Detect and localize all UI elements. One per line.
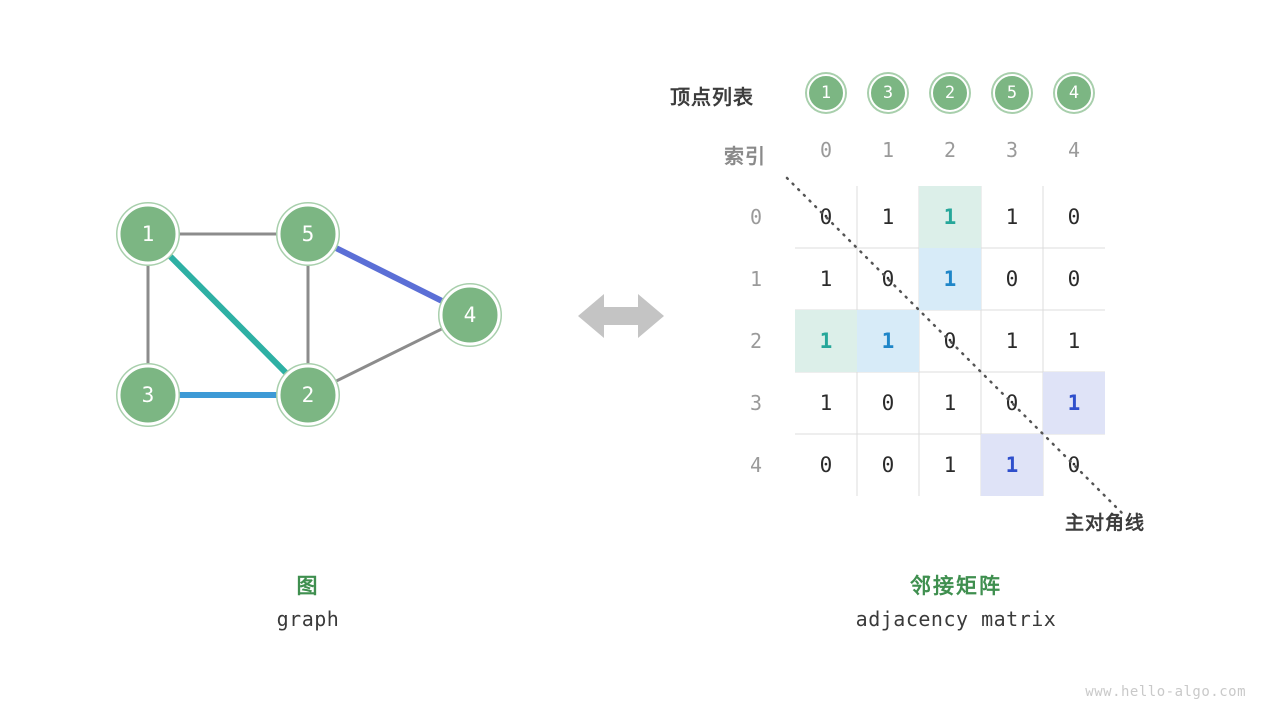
index-header-4: 4 [1043,138,1105,162]
graph-node-label: 4 [464,303,477,327]
vertex-chip-3[interactable]: 3 [869,74,907,112]
row-header-3: 3 [732,372,780,434]
matrix-cell-r3-c2: 1 [919,372,981,434]
index-header-1: 1 [857,138,919,162]
matrix-cell-r2-c2: 0 [919,310,981,372]
matrix-cell-r2-c1: 1 [857,310,919,372]
graph-node-label: 5 [302,222,315,246]
row-header-4: 4 [732,434,780,496]
index-header-3: 3 [981,138,1043,162]
graph-node-5[interactable]: 5 [277,203,339,265]
matrix-cell-r0-c1: 1 [857,186,919,248]
matrix-cell-r3-c4: 1 [1043,372,1105,434]
vertex-chip-label: 5 [1007,83,1017,103]
matrix-cell-r2-c0: 1 [795,310,857,372]
matrix-cell-r4-c2: 1 [919,434,981,496]
matrix-caption-en: adjacency matrix [776,602,1136,636]
graph-node-label: 1 [142,222,155,246]
vertex-chip-label: 4 [1069,83,1079,103]
graph-edge-2-4 [335,328,443,381]
matrix-grid: 0111010100110111010100110 [795,186,1105,496]
graph-node-label: 2 [302,383,315,407]
row-header-2: 2 [732,310,780,372]
graph-node-2[interactable]: 2 [277,364,339,426]
index-header-2: 2 [919,138,981,162]
vertex-chip-5[interactable]: 5 [993,74,1031,112]
graph-caption-cn: 图 [128,570,488,602]
matrix-cell-r0-c3: 1 [981,186,1043,248]
matrix-cell-r2-c4: 1 [1043,310,1105,372]
adjacency-matrix-panel: 顶点列表 索引 13254 01234 01234 01110101001101… [640,0,1280,540]
matrix-cell-r1-c2: 1 [919,248,981,310]
matrix-cell-r3-c1: 0 [857,372,919,434]
matrix-cell-r4-c0: 0 [795,434,857,496]
graph-svg: 15324 [0,0,560,540]
vertex-list-label: 顶点列表 [670,81,754,110]
graph-edge-1-2 [169,255,287,373]
matrix-cell-r4-c3: 1 [981,434,1043,496]
matrix-cell-r3-c3: 0 [981,372,1043,434]
matrix-cell-r4-c1: 0 [857,434,919,496]
row-header-0: 0 [732,186,780,248]
graph-node-4[interactable]: 4 [439,284,501,346]
matrix-cell-r0-c2: 1 [919,186,981,248]
graph-node-label: 3 [142,383,155,407]
main-diagonal-caption: 主对角线 [1065,508,1145,535]
vertex-chip-4[interactable]: 4 [1055,74,1093,112]
vertex-chip-1[interactable]: 1 [807,74,845,112]
vertex-chip-label: 3 [883,83,893,103]
vertex-chip-label: 1 [821,83,831,103]
matrix-caption: 邻接矩阵 adjacency matrix [776,570,1136,636]
graph-edge-5-4 [335,247,443,301]
graph-node-1[interactable]: 1 [117,203,179,265]
diagram-canvas: 15324 顶点列表 索引 13254 01234 01234 01110101… [0,0,1280,720]
matrix-cell-r0-c0: 0 [795,186,857,248]
matrix-cell-r2-c3: 1 [981,310,1043,372]
graph-node-3[interactable]: 3 [117,364,179,426]
matrix-cell-r1-c4: 0 [1043,248,1105,310]
watermark: www.hello-algo.com [1085,684,1246,700]
matrix-cell-r3-c0: 1 [795,372,857,434]
graph-caption-en: graph [128,602,488,636]
graph-panel: 15324 [0,0,560,540]
matrix-caption-cn: 邻接矩阵 [776,570,1136,602]
matrix-cell-r0-c4: 0 [1043,186,1105,248]
matrix-cell-r1-c0: 1 [795,248,857,310]
matrix-cell-r1-c3: 0 [981,248,1043,310]
vertex-chip-label: 2 [945,83,955,103]
matrix-cell-r1-c1: 0 [857,248,919,310]
vertex-chip-2[interactable]: 2 [931,74,969,112]
index-header-0: 0 [795,138,857,162]
index-row-label: 索引 [724,140,766,169]
row-header-1: 1 [732,248,780,310]
matrix-cell-r4-c4: 0 [1043,434,1105,496]
graph-caption: 图 graph [128,570,488,636]
